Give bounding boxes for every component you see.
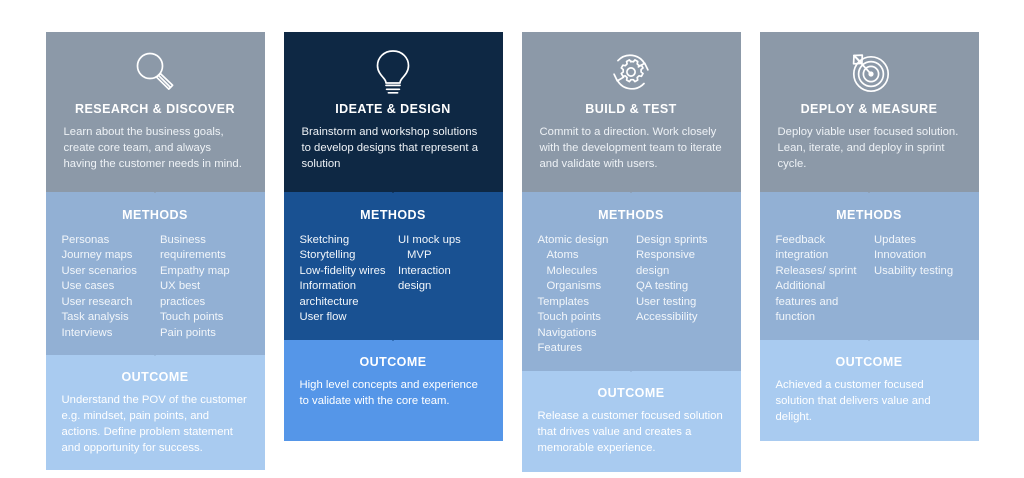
gear-cycle-icon <box>538 46 725 98</box>
method-item: Interviews <box>62 326 151 341</box>
method-item: Molecules <box>538 264 627 279</box>
chevron-down-icon <box>382 183 404 193</box>
method-item: UX best practices <box>160 279 249 310</box>
methods-left-column: Atomic designAtomsMoleculesOrganismsTemp… <box>538 233 627 357</box>
methods-section-research-discover: METHODSPersonasJourney mapsUser scenario… <box>46 192 265 355</box>
outcome-section-build-test: OUTCOMERelease a customer focused soluti… <box>522 371 741 472</box>
method-item: Updates <box>874 233 963 248</box>
method-item: MVP <box>398 248 487 263</box>
methods-left-column: Feedback integrationReleases/ sprintAddi… <box>776 233 865 326</box>
method-item: Templates <box>538 295 627 310</box>
method-item: Low-fidelity wires <box>300 264 389 279</box>
stage-description: Commit to a direction. Work closely with… <box>538 124 725 172</box>
methods-left-column: SketchingStorytellingLow-fidelity wiresI… <box>300 233 389 326</box>
lightbulb-icon <box>300 46 487 98</box>
chevron-down-icon <box>382 331 404 341</box>
method-item: Innovation <box>874 248 963 263</box>
method-item: QA testing <box>636 279 725 294</box>
chevron-down-icon <box>858 331 880 341</box>
stage-title: BUILD & TEST <box>538 102 725 117</box>
method-item: Additional features and function <box>776 279 865 325</box>
methods-heading: METHODS <box>300 208 487 222</box>
method-item: Usability testing <box>874 264 963 279</box>
outcome-description: Release a customer focused solution that… <box>538 408 725 456</box>
outcome-section-research-discover: OUTCOMEUnderstand the POV of the custome… <box>46 355 265 470</box>
methods-columns: SketchingStorytellingLow-fidelity wiresI… <box>300 233 487 326</box>
method-item: Task analysis <box>62 310 151 325</box>
chevron-down-icon <box>620 183 642 193</box>
method-item: Business requirements <box>160 233 249 264</box>
method-item: UI mock ups <box>398 233 487 248</box>
method-item: Personas <box>62 233 151 248</box>
chevron-down-icon <box>144 183 166 193</box>
outcome-description: Understand the POV of the customer e.g. … <box>62 392 249 456</box>
methods-heading: METHODS <box>62 208 249 222</box>
method-item: Journey maps <box>62 248 151 263</box>
methods-right-column: Design sprintsResponsive designQA testin… <box>636 233 725 357</box>
chevron-down-icon <box>858 183 880 193</box>
method-item: Features <box>538 341 627 356</box>
method-item: Atomic design <box>538 233 627 248</box>
outcome-section-ideate-design: OUTCOMEHigh level concepts and experienc… <box>284 340 503 441</box>
method-item: Responsive design <box>636 248 725 279</box>
stage-column-deploy-measure: DEPLOY & MEASUREDeploy viable user focus… <box>760 32 979 441</box>
outcome-section-deploy-measure: OUTCOMEAchieved a customer focused solut… <box>760 340 979 441</box>
method-item: Feedback integration <box>776 233 865 264</box>
methods-columns: Feedback integrationReleases/ sprintAddi… <box>776 233 963 326</box>
outcome-heading: OUTCOME <box>62 370 249 384</box>
method-item: Atoms <box>538 248 627 263</box>
stage-title: RESEARCH & DISCOVER <box>62 102 249 117</box>
method-item: Pain points <box>160 326 249 341</box>
method-item: User research <box>62 295 151 310</box>
stage-title: IDEATE & DESIGN <box>300 102 487 117</box>
stage-column-build-test: BUILD & TESTCommit to a direction. Work … <box>522 32 741 472</box>
process-diagram: RESEARCH & DISCOVERLearn about the busin… <box>0 0 1024 478</box>
method-item: Design sprints <box>636 233 725 248</box>
stage-column-ideate-design: IDEATE & DESIGNBrainstorm and workshop s… <box>284 32 503 441</box>
method-item: Use cases <box>62 279 151 294</box>
methods-section-deploy-measure: METHODSFeedback integrationReleases/ spr… <box>760 192 979 340</box>
outcome-description: Achieved a customer focused solution tha… <box>776 377 963 425</box>
outcome-description: High level concepts and experience to va… <box>300 377 487 409</box>
stage-description: Brainstorm and workshop solutions to dev… <box>300 124 487 172</box>
method-item: User flow <box>300 310 389 325</box>
outcome-heading: OUTCOME <box>300 355 487 369</box>
method-item: Storytelling <box>300 248 389 263</box>
method-item: Interaction design <box>398 264 487 295</box>
method-item: Information architecture <box>300 279 389 310</box>
methods-right-column: UI mock upsMVPInteraction design <box>398 233 487 326</box>
method-item: Organisms <box>538 279 627 294</box>
methods-right-column: Business requirementsEmpathy mapUX best … <box>160 233 249 341</box>
chevron-down-icon <box>620 362 642 372</box>
method-item: User testing <box>636 295 725 310</box>
stage-header-ideate-design: IDEATE & DESIGNBrainstorm and workshop s… <box>284 32 503 192</box>
method-item: Releases/ sprint <box>776 264 865 279</box>
stage-description: Deploy viable user focused solution. Lea… <box>776 124 963 172</box>
method-item: Empathy map <box>160 264 249 279</box>
methods-heading: METHODS <box>538 208 725 222</box>
method-item: User scenarios <box>62 264 151 279</box>
methods-right-column: UpdatesInnovationUsability testing <box>874 233 963 326</box>
outcome-heading: OUTCOME <box>776 355 963 369</box>
magnifier-icon <box>62 46 249 98</box>
methods-section-build-test: METHODSAtomic designAtomsMoleculesOrgani… <box>522 192 741 371</box>
methods-columns: PersonasJourney mapsUser scenariosUse ca… <box>62 233 249 341</box>
method-item: Touch points <box>160 310 249 325</box>
methods-heading: METHODS <box>776 208 963 222</box>
outcome-heading: OUTCOME <box>538 386 725 400</box>
target-arrow-icon <box>776 46 963 98</box>
method-item: Navigations <box>538 326 627 341</box>
stage-title: DEPLOY & MEASURE <box>776 102 963 117</box>
chevron-down-icon <box>144 346 166 356</box>
methods-section-ideate-design: METHODSSketchingStorytellingLow-fidelity… <box>284 192 503 340</box>
method-item: Sketching <box>300 233 389 248</box>
methods-left-column: PersonasJourney mapsUser scenariosUse ca… <box>62 233 151 341</box>
stage-column-research-discover: RESEARCH & DISCOVERLearn about the busin… <box>46 32 265 470</box>
stage-header-research-discover: RESEARCH & DISCOVERLearn about the busin… <box>46 32 265 192</box>
method-item: Touch points <box>538 310 627 325</box>
stage-description: Learn about the business goals, create c… <box>62 124 249 172</box>
stage-header-deploy-measure: DEPLOY & MEASUREDeploy viable user focus… <box>760 32 979 192</box>
method-item: Accessibility <box>636 310 725 325</box>
stage-header-build-test: BUILD & TESTCommit to a direction. Work … <box>522 32 741 192</box>
methods-columns: Atomic designAtomsMoleculesOrganismsTemp… <box>538 233 725 357</box>
